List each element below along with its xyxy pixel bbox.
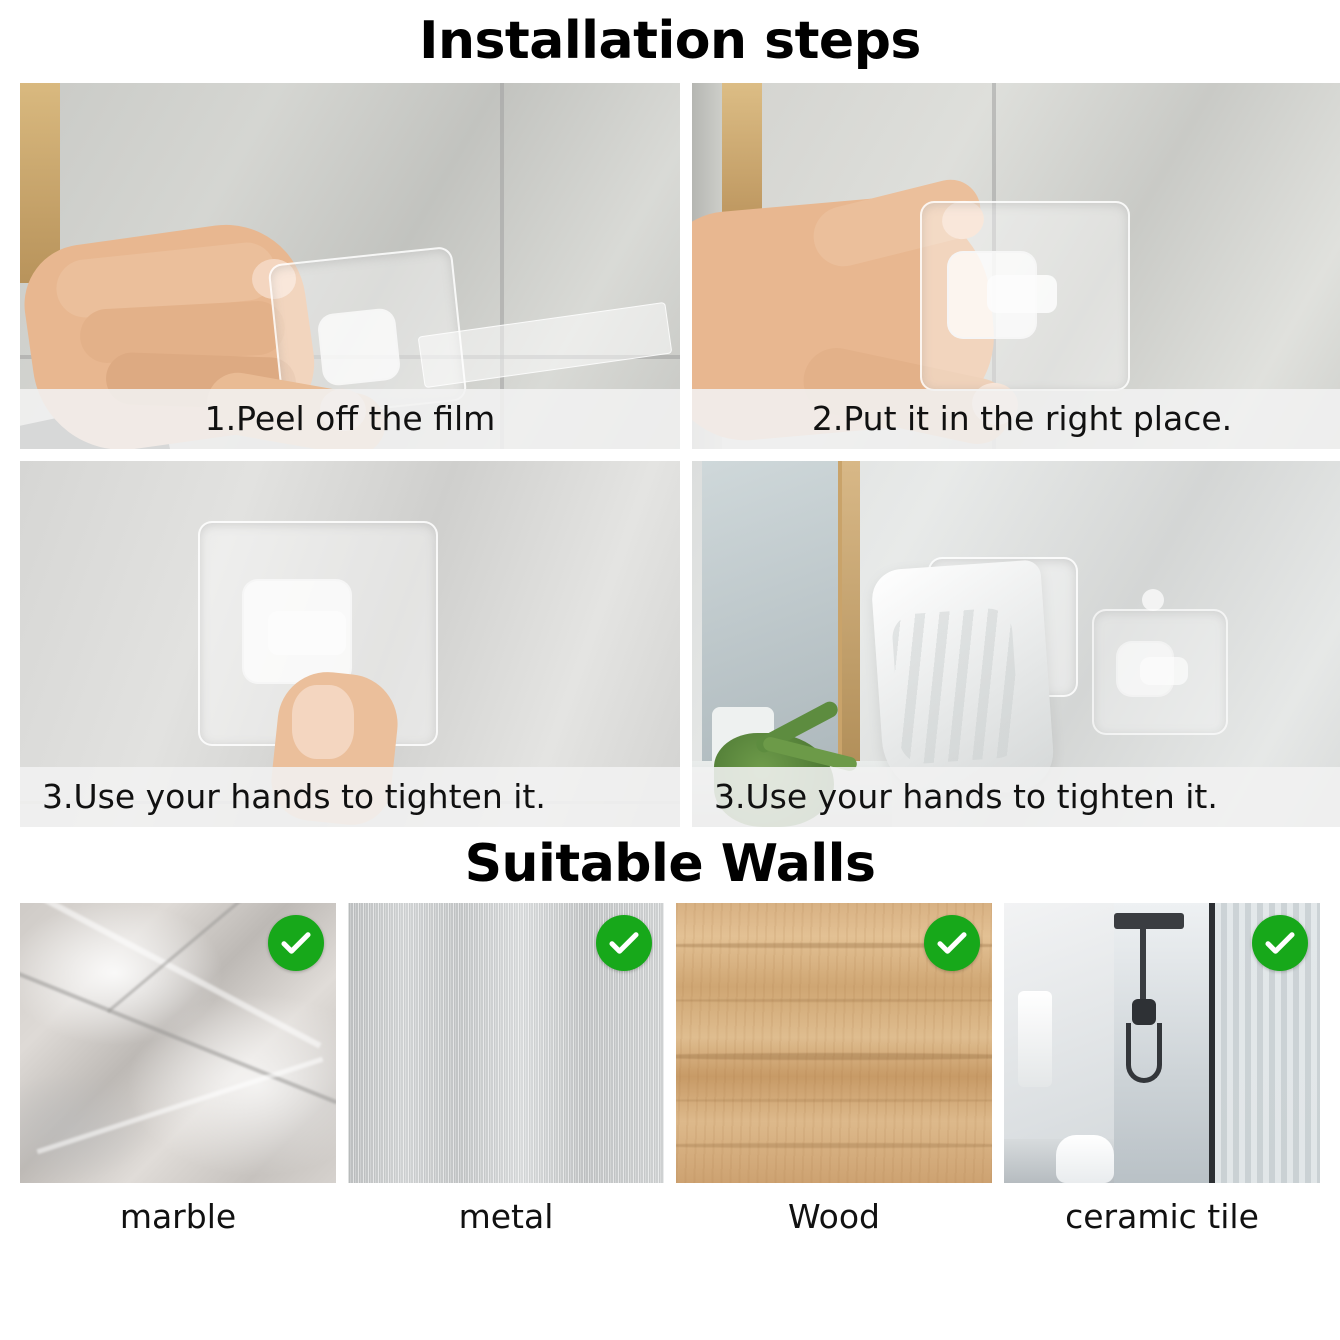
hook-peg bbox=[268, 611, 346, 655]
wall-label-metal: metal bbox=[348, 1183, 664, 1236]
step-card-2: 2.Put it in the right place. bbox=[692, 83, 1340, 449]
installation-steps-grid: 1.Peel off the film 2.Put it in the bbox=[0, 83, 1340, 827]
wood-grain-line bbox=[676, 999, 992, 1002]
swatch-marble bbox=[20, 903, 336, 1183]
check-icon bbox=[268, 915, 324, 971]
step-card-1: 1.Peel off the film bbox=[20, 83, 680, 449]
towel-texture bbox=[891, 607, 1021, 765]
marble-vein bbox=[20, 966, 336, 1105]
hook-peg bbox=[1140, 657, 1188, 685]
marble-vein bbox=[37, 1057, 324, 1154]
hanging-towel bbox=[1018, 991, 1052, 1087]
rain-shower-head bbox=[1114, 913, 1184, 929]
installation-steps-title: Installation steps bbox=[0, 0, 1340, 69]
wood-grain-line bbox=[676, 1099, 992, 1102]
step-caption-4: 3.Use your hands to tighten it. bbox=[692, 767, 1340, 827]
wall-highlight bbox=[1142, 589, 1164, 611]
mirror-frame bbox=[842, 461, 860, 781]
check-icon bbox=[924, 915, 980, 971]
wood-grain-line bbox=[676, 1053, 992, 1060]
suitable-walls-title: Suitable Walls bbox=[0, 827, 1340, 892]
wall-label-wood: Wood bbox=[676, 1183, 992, 1236]
check-icon bbox=[596, 915, 652, 971]
fingernail bbox=[292, 685, 354, 759]
hand-shower bbox=[1132, 999, 1156, 1025]
swatch-wood bbox=[676, 903, 992, 1183]
shower-hose bbox=[1126, 1023, 1162, 1083]
toilet bbox=[1056, 1135, 1114, 1183]
marble-vein bbox=[107, 903, 293, 1013]
step-caption-3: 3.Use your hands to tighten it. bbox=[20, 767, 680, 827]
wall-card-wood: Wood bbox=[676, 903, 992, 1236]
step-card-3: 3.Use your hands to tighten it. bbox=[20, 461, 680, 827]
wall-card-ceramic-tile: ceramic tile bbox=[1004, 903, 1320, 1236]
step-caption-2: 2.Put it in the right place. bbox=[692, 389, 1340, 449]
wood-grain-line bbox=[676, 1143, 992, 1148]
step-card-4: 3.Use your hands to tighten it. bbox=[692, 461, 1340, 827]
product-infographic: Installation steps bbox=[0, 0, 1340, 1340]
swatch-ceramic-tile bbox=[1004, 903, 1320, 1183]
hook-knob bbox=[316, 307, 401, 387]
wall-card-marble: marble bbox=[20, 903, 336, 1236]
step-caption-1: 1.Peel off the film bbox=[20, 389, 680, 449]
check-icon bbox=[1252, 915, 1308, 971]
suitable-walls-grid: marble metal Wood bbox=[0, 903, 1340, 1236]
wall-label-ceramic-tile: ceramic tile bbox=[1004, 1183, 1320, 1236]
wall-label-marble: marble bbox=[20, 1183, 336, 1236]
swatch-metal bbox=[348, 903, 664, 1183]
shower-riser bbox=[1140, 929, 1146, 1009]
hook-peg bbox=[987, 275, 1057, 313]
wall-card-metal: metal bbox=[348, 903, 664, 1236]
